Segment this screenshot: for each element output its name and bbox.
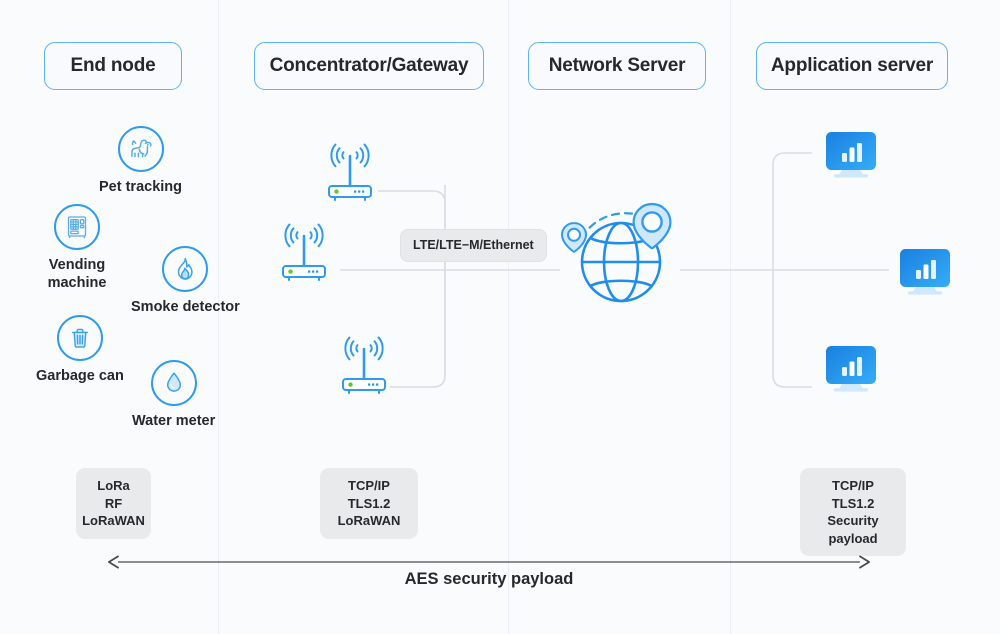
vending-machine-icon: [54, 204, 100, 250]
protocol-chip-app-server: TCP/IP TLS1.2 Security payload: [800, 468, 906, 556]
protocol-line-1: LoRa RF: [89, 477, 138, 512]
column-divider-1: [218, 0, 219, 634]
column-header-label: Network Server: [549, 55, 686, 77]
protocol-line-2: Security payload: [813, 512, 893, 547]
gateway-router-1: [314, 138, 386, 211]
protocol-line-1: TCP/IP TLS1.2: [333, 477, 405, 512]
gateway-router-3: [328, 331, 400, 404]
end-node-garbage-can: Garbage can: [36, 315, 124, 386]
protocol-line-2: LoRaWAN: [338, 512, 401, 530]
app-server-monitor-3: [823, 344, 879, 401]
column-header-label: Application server: [771, 55, 933, 77]
end-node-label: Smoke detector: [131, 299, 240, 317]
protocol-chip-end-node: LoRa RF LoRaWAN: [76, 468, 151, 539]
end-node-label: Water meter: [132, 413, 215, 431]
end-node-water-meter: Water meter: [132, 360, 215, 431]
end-node-label: Pet tracking: [99, 179, 182, 197]
aes-span-arrow-label: AES security payload: [0, 570, 978, 589]
column-divider-3: [730, 0, 731, 634]
column-header-application-server: Application server: [756, 42, 948, 90]
column-header-label: Concentrator/Gateway: [270, 55, 469, 77]
column-divider-2: [508, 0, 509, 634]
globe-with-location-pins-icon: [554, 196, 686, 323]
end-node-smoke-detector: Smoke detector: [131, 246, 240, 317]
protocol-chip-gateway: TCP/IP TLS1.2 LoRaWAN: [320, 468, 418, 539]
app-server-monitor-1: [823, 130, 879, 187]
protocol-line-1: TCP/IP TLS1.2: [813, 477, 893, 512]
pet-dog-icon: [118, 126, 164, 172]
aes-span-arrow-label-text: AES security payload: [405, 570, 574, 588]
column-header-label: End node: [71, 55, 156, 77]
end-node-label: Garbage can: [36, 368, 124, 386]
trash-can-icon: [57, 315, 103, 361]
end-node-pet-tracking: Pet tracking: [99, 126, 182, 197]
water-drop-icon: [151, 360, 197, 406]
end-node-label: Vendingmachine: [34, 257, 120, 292]
column-header-concentrator: Concentrator/Gateway: [254, 42, 484, 90]
lorawan-architecture-diagram: End node Concentrator/Gateway Network Se…: [0, 0, 1000, 634]
app-server-monitor-2: [897, 247, 953, 304]
column-header-end-node: End node: [44, 42, 182, 90]
gateway-router-2: [268, 218, 340, 291]
column-header-network-server: Network Server: [528, 42, 706, 90]
protocol-line-2: LoRaWAN: [82, 512, 145, 530]
end-node-vending-machine: Vendingmachine: [34, 204, 120, 292]
link-label-lte-ethernet: LTE/LTE−M/Ethernet: [400, 229, 547, 262]
flame-icon: [162, 246, 208, 292]
link-label-text: LTE/LTE−M/Ethernet: [413, 237, 534, 254]
